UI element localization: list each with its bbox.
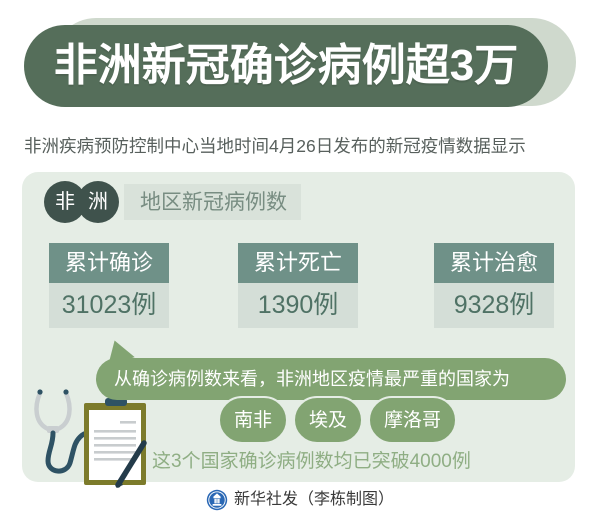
section-header: 非 洲 地区新冠病例数 bbox=[44, 181, 301, 223]
medical-illustration bbox=[26, 385, 166, 495]
title-banner: 非洲新冠确诊病例超3万 bbox=[24, 18, 576, 112]
page-title: 非洲新冠确诊病例超3万 bbox=[54, 44, 518, 88]
region-badge-group: 非 洲 bbox=[44, 181, 130, 223]
stat-card-deaths: 累计死亡 1390例 bbox=[238, 243, 358, 328]
stats-row: 累计确诊 31023例 累计死亡 1390例 累计治愈 9328例 bbox=[22, 243, 575, 331]
region-badge-2: 洲 bbox=[77, 181, 119, 223]
stat-card-confirmed: 累计确诊 31023例 bbox=[49, 243, 169, 328]
clipboard-icon bbox=[84, 395, 146, 485]
country-pill-group: 南非 埃及 摩洛哥 bbox=[218, 396, 462, 444]
footnote-text: 这3个国家确诊病例数均已突破4000例 bbox=[152, 452, 471, 471]
country-pill-egypt: 埃及 bbox=[293, 396, 363, 444]
callout-text: 从确诊病例数来看，非洲地区疫情最严重的国家为 bbox=[114, 370, 510, 388]
xinhua-logo-icon bbox=[206, 489, 228, 511]
stat-value: 9328例 bbox=[434, 283, 554, 328]
infographic-page: 非洲新冠确诊病例超3万 非洲疾病预防控制中心当地时间4月26日发布的新冠疫情数据… bbox=[0, 0, 600, 522]
section-title: 地区新冠病例数 bbox=[124, 184, 301, 220]
subtitle-text: 非洲疾病预防控制中心当地时间4月26日发布的新冠疫情数据显示 bbox=[24, 136, 584, 157]
stat-card-recovered: 累计治愈 9328例 bbox=[434, 243, 554, 328]
stat-label: 累计治愈 bbox=[434, 243, 554, 283]
stat-label: 累计确诊 bbox=[49, 243, 169, 283]
title-banner-pill: 非洲新冠确诊病例超3万 bbox=[24, 25, 548, 107]
stat-value: 31023例 bbox=[49, 283, 169, 328]
country-pill-morocco: 摩洛哥 bbox=[368, 396, 457, 444]
stat-label: 累计死亡 bbox=[238, 243, 358, 283]
credit-text: 新华社发（李栋制图） bbox=[234, 492, 394, 508]
country-pill-south-africa: 南非 bbox=[218, 396, 288, 444]
credit-line: 新华社发（李栋制图） bbox=[0, 489, 600, 511]
stat-value: 1390例 bbox=[238, 283, 358, 328]
speech-bubble: 从确诊病例数来看，非洲地区疫情最严重的国家为 bbox=[96, 358, 566, 400]
